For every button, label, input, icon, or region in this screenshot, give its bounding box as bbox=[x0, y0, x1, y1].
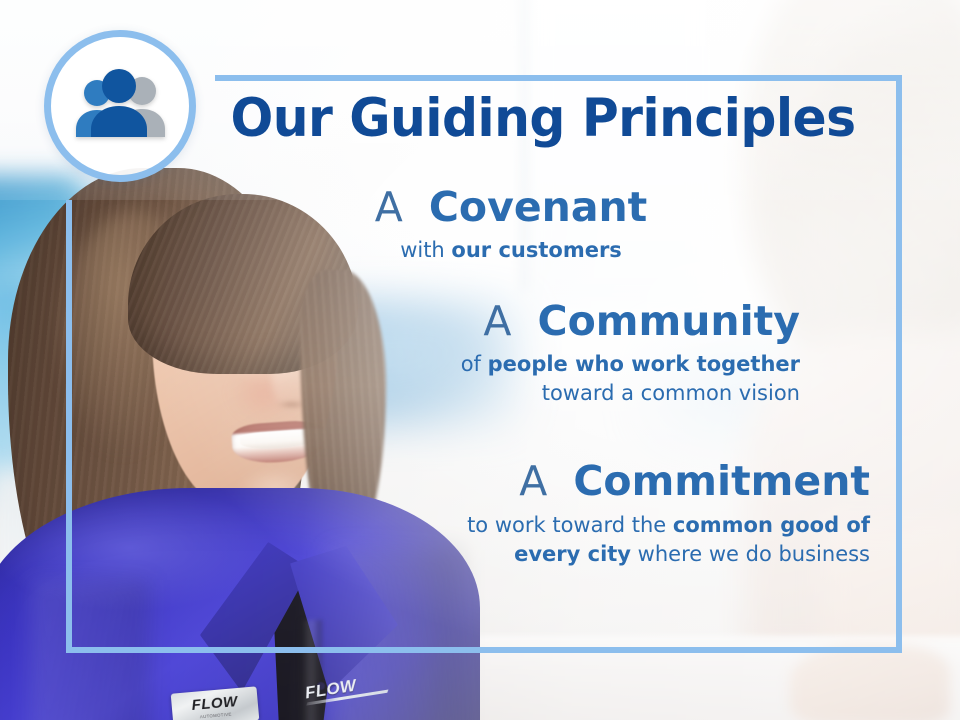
poster-canvas: FLOW AUTOMOTIVE FLOW bbox=[0, 0, 960, 720]
principle-lead-word: A bbox=[483, 297, 524, 345]
principle-lead-word: A bbox=[519, 457, 560, 505]
principle-heading: A Community bbox=[400, 300, 800, 343]
principle-community: A Community of people who work together … bbox=[400, 300, 800, 408]
poster-text-content: Our Guiding Principles A Covenant with o… bbox=[0, 0, 960, 720]
principle-keyword: Covenant bbox=[429, 183, 647, 231]
body-segment-bold: people who work together bbox=[488, 352, 800, 376]
principle-commitment: A Commitment to work toward the common g… bbox=[430, 460, 870, 569]
principle-heading: A Covenant bbox=[346, 186, 676, 229]
principle-body: of people who work together toward a com… bbox=[400, 350, 800, 407]
body-segment: where we do business bbox=[631, 542, 870, 566]
principle-body: with our customers bbox=[346, 236, 676, 265]
body-segment: toward a common vision bbox=[542, 381, 800, 405]
body-segment: of bbox=[461, 352, 488, 376]
principle-keyword: Community bbox=[538, 297, 800, 345]
page-title: Our Guiding Principles bbox=[230, 92, 857, 145]
principle-body: to work toward the common good of every … bbox=[430, 511, 870, 568]
principle-heading: A Commitment bbox=[430, 460, 870, 503]
body-segment: with bbox=[400, 238, 451, 262]
principle-keyword: Commitment bbox=[573, 457, 870, 505]
body-segment-bold: our customers bbox=[451, 238, 621, 262]
principle-lead-word: A bbox=[375, 183, 416, 231]
body-segment: to work toward the bbox=[467, 513, 673, 537]
principle-covenant: A Covenant with our customers bbox=[346, 186, 676, 265]
